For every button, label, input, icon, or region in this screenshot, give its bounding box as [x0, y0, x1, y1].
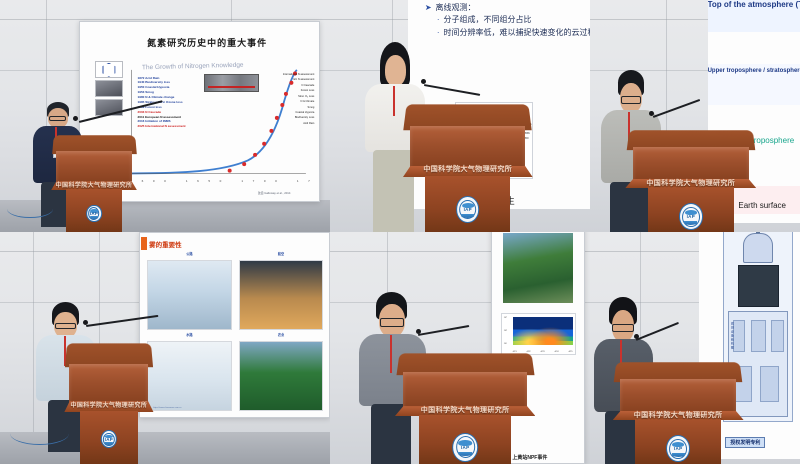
- panel-bottom-middle[interactable]: 10³ 10² 10¹ 4/21 4/22 4/23 4/24 4/25 上黄站…: [330, 232, 590, 464]
- image-grid: 公路 航空 水路 https://www.chinanews.com.cn: [147, 259, 323, 411]
- glasses-icon: [49, 116, 66, 121]
- slide-title: 雾的重要性: [149, 239, 182, 249]
- lectern-institution-text: 中国科学院大气物理研究所: [615, 410, 741, 420]
- iap-logo: IAP: [679, 203, 703, 230]
- module-part: [733, 320, 746, 351]
- field-station-photo: [503, 233, 573, 303]
- image-caption: 航空: [239, 251, 324, 256]
- photo-collage-grid: 氮素研究历史中的重大事件 The Growth of Nitrogen Know…: [0, 0, 800, 464]
- x-tick: 4/24: [554, 351, 558, 353]
- image-caption: 农业: [239, 332, 324, 337]
- dot-bullet-icon: ·: [437, 28, 440, 37]
- y-tick: 10²: [504, 330, 507, 332]
- module-part: [751, 320, 766, 351]
- module-part: [771, 320, 784, 351]
- floor-cable: [7, 200, 53, 219]
- lectern: 中国科学院大气物理研究所 IAP: [628, 130, 754, 232]
- size-distribution-heatmap: 10³ 10² 10¹ 4/21 4/22 4/23 4/24 4/25: [501, 313, 576, 355]
- mountain-photo: [239, 341, 324, 411]
- dot-bullet-icon: ·: [437, 15, 440, 24]
- glasses-icon: [621, 96, 642, 104]
- logo-text: IAP: [461, 445, 469, 450]
- curve-event-labels: International N assessment EU N assessme…: [283, 72, 314, 126]
- lectern-institution-text: 中国科学院大气物理研究所: [628, 178, 754, 188]
- grid-cell-waterway: 水路 https://www.chinanews.com.cn: [147, 339, 232, 411]
- image-caption: 公路: [147, 251, 232, 256]
- lectern-front-panel: [633, 147, 749, 182]
- lectern-front-panel: [620, 379, 736, 414]
- lectern: 中国科学院大气物理研究所 IAP: [398, 353, 533, 464]
- wave-icon: [672, 453, 685, 457]
- x-tick: 4/25: [568, 351, 572, 353]
- logo-text: IAP: [105, 437, 113, 442]
- aircraft-photo: [239, 260, 324, 330]
- panel-bottom-right[interactable]: 观测设备结构图 授权发明专利 中国科学院大气物理研究所 IAP: [590, 232, 800, 464]
- image-caption: 水路: [147, 332, 232, 337]
- instrument-dark-module: [738, 265, 779, 307]
- glasses-icon: [612, 324, 633, 332]
- portrait-thumbnails: [95, 61, 124, 118]
- logo-text: IAP: [687, 214, 695, 219]
- slide-title: 氮素研究历史中的重大事件: [147, 36, 267, 49]
- slide-accent-block: [141, 237, 148, 250]
- microphone-head-icon: [73, 116, 78, 121]
- lectern-institution-text: 中国科学院大气物理研究所: [66, 400, 152, 409]
- lectern-front-panel: [403, 372, 527, 410]
- bullet-item: ·分子组成，不同组分占比: [425, 14, 590, 26]
- curve-label: Acid Rain: [283, 121, 314, 126]
- head: [385, 55, 406, 85]
- lectern-front-panel: [410, 126, 525, 169]
- bullet-item: ·时间分辨率低，难以捕捉快速变化的云过程: [425, 27, 590, 39]
- slide-label-toa: Top of the atmosphere (TOA): [708, 0, 800, 10]
- y-tick: 10³: [504, 317, 507, 319]
- grid-cell-road: 公路: [147, 259, 232, 331]
- wave-icon: [684, 221, 697, 225]
- iap-logo: IAP: [666, 435, 690, 462]
- x-tick: 4/23: [541, 351, 545, 353]
- heatmap-area: [513, 317, 573, 345]
- nitrogen-symbol-icon: [95, 61, 124, 78]
- panel-top-right[interactable]: Top of the atmosphere (TOA) Upper tropos…: [590, 0, 800, 232]
- lectern: 中国科学院大气物理研究所 IAP: [66, 343, 152, 464]
- lanyard: [390, 335, 392, 373]
- plot-y-ticks: 10³ 10² 10¹: [504, 317, 507, 345]
- lectern: 中国科学院大气物理研究所 IAP: [53, 135, 136, 232]
- iap-logo: IAP: [452, 433, 478, 462]
- lectern: 中国科学院大气物理研究所 IAP: [405, 104, 530, 232]
- grid-cell-aviation: 航空: [239, 259, 324, 331]
- slide-credit: 改自 Galloway et al., 2014: [258, 191, 291, 195]
- lectern-institution-text: 中国科学院大气物理研究所: [398, 405, 533, 415]
- microphone-head-icon: [421, 79, 426, 84]
- iap-logo: IAP: [86, 205, 102, 223]
- glasses-icon: [55, 323, 76, 329]
- ship-photo: https://www.chinanews.com.cn: [147, 341, 232, 411]
- arrow-bullet-icon: ➤: [425, 3, 432, 12]
- logo-text: IAP: [464, 207, 472, 212]
- lectern-front-panel: [56, 151, 132, 184]
- lectern-institution-text: 中国科学院大气物理研究所: [53, 180, 136, 189]
- module-part: [760, 366, 778, 402]
- scientist-portrait: [95, 80, 124, 97]
- panel-top-left[interactable]: 氮素研究历史中的重大事件 The Growth of Nitrogen Know…: [0, 0, 330, 232]
- wave-icon: [105, 442, 114, 445]
- bullet-item: ➤离线观测：: [425, 2, 590, 14]
- grid-cell-agriculture: 农业: [239, 339, 324, 411]
- highway-photo: [147, 260, 232, 330]
- slide-bullet-list: ➤离线观测： ·分子组成，不同组分占比 ·时间分辨率低，难以捕捉快速变化的云过程: [425, 2, 590, 39]
- logo-text: IAP: [674, 446, 682, 451]
- y-tick: 10¹: [504, 343, 507, 345]
- lectern-institution-text: 中国科学院大气物理研究所: [405, 164, 530, 174]
- logo-text: IAP: [90, 211, 98, 216]
- iap-logo: IAP: [456, 196, 480, 223]
- diagram-side-label: 观测设备结构图: [730, 322, 734, 350]
- glasses-icon: [380, 318, 404, 327]
- lectern: 中国科学院大气物理研究所 IAP: [615, 362, 741, 464]
- panel-bottom-left[interactable]: 雾的重要性 公路 航空 水路 https://www.chinanews.com…: [0, 232, 330, 464]
- slide-label-utls: Upper troposphere / stratosphere (UTLS): [708, 68, 800, 76]
- x-axis-ticks: 1600 1650 1700 1750 1800 1850 1900 1950: [130, 179, 320, 183]
- panel-top-middle[interactable]: ➤离线观测： ·分子组成，不同组分占比 ·时间分辨率低，难以捕捉快速变化的云过程…: [330, 0, 590, 232]
- microphone-head-icon: [83, 320, 88, 325]
- lectern-front-panel: [69, 364, 148, 405]
- wave-icon: [461, 214, 474, 218]
- source-note: https://www.chinanews.com.cn: [153, 407, 181, 409]
- projection-screen: 雾的重要性 公路 航空 水路 https://www.chinanews.com…: [139, 232, 330, 418]
- instrument-head: [743, 233, 773, 263]
- lanyard: [393, 86, 395, 116]
